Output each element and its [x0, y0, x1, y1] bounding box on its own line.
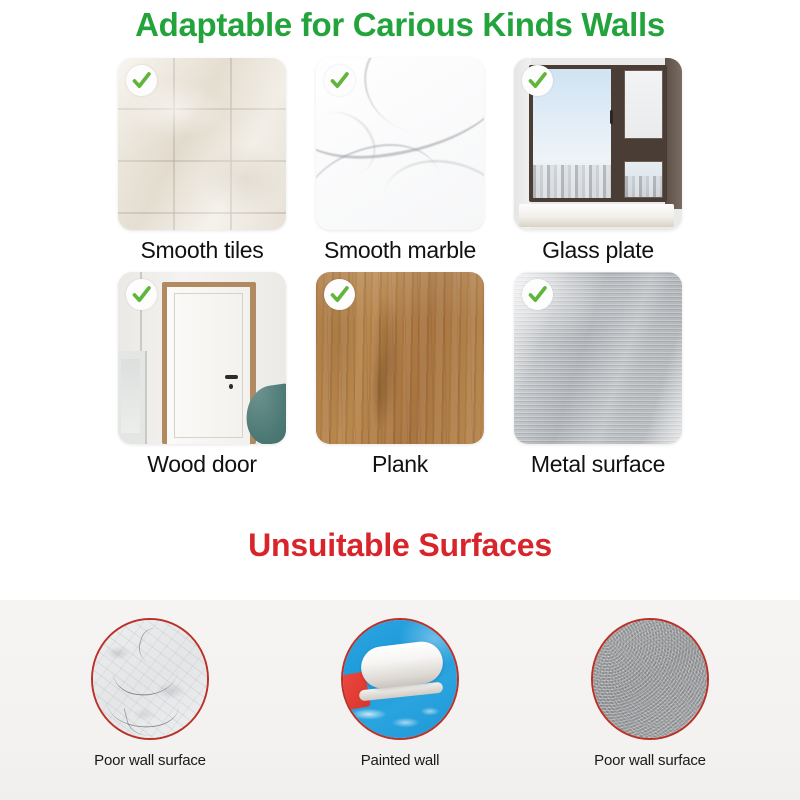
- check-badge-icon: [522, 279, 553, 310]
- unsuitable-surfaces-band: Poor wall surface Painted wall Po: [0, 600, 800, 800]
- suitable-surfaces-grid: Smooth tiles Smooth marble: [0, 58, 800, 486]
- surface-thumbnail-smooth-marble: [316, 58, 484, 230]
- cracked-plaster-texture: [93, 620, 207, 738]
- unsuitable-thumbnail-painted-wall: [341, 618, 459, 740]
- surface-card-smooth-tiles[interactable]: Smooth tiles: [116, 58, 288, 264]
- check-badge-icon: [126, 279, 157, 310]
- surface-thumbnail-wood-door: [118, 272, 286, 444]
- unsuitable-row: Poor wall surface Painted wall Po: [0, 618, 800, 769]
- surface-card-plank[interactable]: Plank: [314, 272, 486, 478]
- surface-label: Smooth marble: [324, 237, 476, 264]
- unsuitable-thumbnail-cracked-plaster: [91, 618, 209, 740]
- check-badge-icon: [126, 65, 157, 96]
- suitable-row-1: Smooth tiles Smooth marble: [0, 58, 800, 264]
- surface-card-wood-door[interactable]: Wood door: [116, 272, 288, 478]
- suitable-row-2: Wood door Plank: [0, 272, 800, 478]
- suitable-surfaces-heading: Adaptable for Carious Kinds Walls: [0, 6, 800, 44]
- surface-card-smooth-marble[interactable]: Smooth marble: [314, 58, 486, 264]
- surface-thumbnail-metal-surface: [514, 272, 682, 444]
- check-badge-icon: [522, 65, 553, 96]
- check-badge-icon: [324, 279, 355, 310]
- surface-thumbnail-smooth-tiles: [118, 58, 286, 230]
- unsuitable-label: Painted wall: [361, 752, 439, 769]
- unsuitable-card-poor-wall-surface-1[interactable]: Poor wall surface: [80, 618, 220, 769]
- unsuitable-label: Poor wall surface: [594, 752, 706, 769]
- unsuitable-thumbnail-rough-concrete: [591, 618, 709, 740]
- surface-label: Wood door: [147, 451, 256, 478]
- surface-label: Glass plate: [542, 237, 654, 264]
- unsuitable-card-poor-wall-surface-2[interactable]: Poor wall surface: [580, 618, 720, 769]
- unsuitable-card-painted-wall[interactable]: Painted wall: [330, 618, 470, 769]
- paint-roller-texture: [343, 620, 457, 738]
- surface-label: Smooth tiles: [141, 237, 264, 264]
- surface-label: Metal surface: [531, 451, 665, 478]
- surface-thumbnail-glass-plate: [514, 58, 682, 230]
- surface-thumbnail-plank: [316, 272, 484, 444]
- rough-concrete-texture: [593, 620, 707, 738]
- surface-card-glass-plate[interactable]: Glass plate: [512, 58, 684, 264]
- unsuitable-surfaces-heading: Unsuitable Surfaces: [0, 527, 800, 564]
- check-badge-icon: [324, 65, 355, 96]
- surface-card-metal-surface[interactable]: Metal surface: [512, 272, 684, 478]
- unsuitable-label: Poor wall surface: [94, 752, 206, 769]
- infographic-page: Adaptable for Carious Kinds Walls Smooth…: [0, 0, 800, 800]
- surface-label: Plank: [372, 451, 428, 478]
